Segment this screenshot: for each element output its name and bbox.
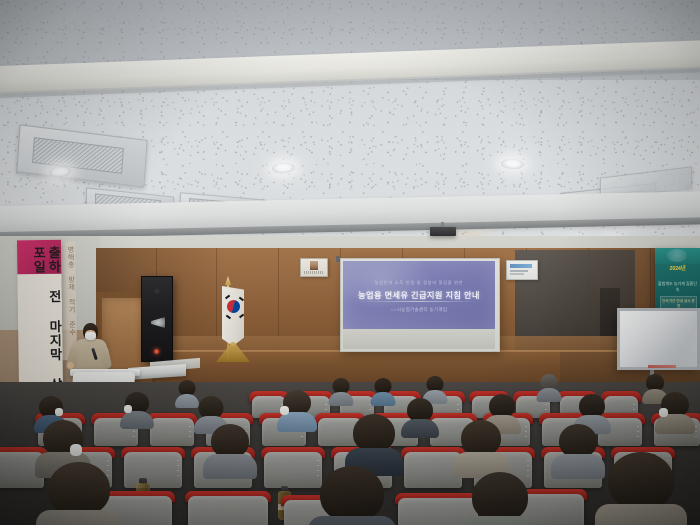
slide-title-text: 농업용 면세유 긴급지원 지침 안내 <box>343 289 495 301</box>
attendee <box>44 462 114 525</box>
attendee <box>330 378 352 404</box>
attendee <box>280 390 314 428</box>
attendee <box>350 414 398 466</box>
attendee <box>658 392 692 430</box>
presenter-hand <box>67 362 74 369</box>
sign-text-line <box>510 273 524 275</box>
ac-grille <box>32 137 124 174</box>
attendee <box>468 472 532 525</box>
ceiling-projector <box>430 227 456 236</box>
portrait-caption <box>304 271 324 274</box>
screen-blank-area <box>343 329 495 349</box>
framed-portrait <box>300 258 328 277</box>
whiteboard-tray <box>648 365 676 368</box>
poster-subhead: 불법개조 농기계 집중단속 <box>657 281 698 292</box>
whiteboard <box>617 308 700 370</box>
attendee <box>538 374 560 400</box>
attendee <box>604 452 678 522</box>
attendee <box>176 380 198 406</box>
pa-speaker <box>141 276 173 362</box>
attendee <box>122 392 152 426</box>
attendee <box>208 424 252 472</box>
poster-headline: 2024년 <box>657 266 698 273</box>
slide-kicker-text: 농업인의 소득 안정 및 경영비 절감을 위한 <box>343 280 495 286</box>
presentation-slide: 농업인의 소득 안정 및 경영비 절감을 위한 농업용 면세유 긴급지원 지침 … <box>343 261 495 329</box>
sign-title-bar <box>510 264 532 268</box>
seat[interactable] <box>188 496 268 525</box>
poster-logo-icon <box>667 249 687 262</box>
pa-tweeter-icon <box>153 287 161 295</box>
poster-header-band <box>655 248 700 264</box>
pa-power-led-icon <box>154 349 159 354</box>
projection-screen: 농업인의 소득 안정 및 경영비 절감을 위한 농업용 면세유 긴급지원 지침 … <box>340 258 500 352</box>
pa-cone-icon <box>151 317 165 328</box>
attendee <box>458 420 504 470</box>
framed-wall-sign <box>506 260 538 280</box>
seat[interactable] <box>264 452 322 488</box>
attendee <box>404 398 436 434</box>
slide-subtitle-text: ○○시농업기술센터 농기계팀 <box>343 307 495 313</box>
attendee <box>372 378 394 404</box>
seat[interactable] <box>150 418 194 446</box>
slide-title-underline <box>359 301 479 302</box>
attendee <box>316 466 388 525</box>
hanging-banner: 출하 전 마지막 살포일 <box>17 240 63 393</box>
whiteboard-glare <box>620 311 697 367</box>
sign-text-line <box>510 270 528 272</box>
attendee <box>556 424 600 472</box>
auditorium-photo: 병해충 방제 적기 준수 출하 전 마지막 살포일 농업인의 소득 안정 <box>0 0 700 525</box>
seat[interactable] <box>124 452 182 488</box>
portrait-photo <box>310 261 318 270</box>
banner-text: 출하 전 마지막 살포일 <box>17 246 63 393</box>
face-mask-icon <box>85 332 96 340</box>
